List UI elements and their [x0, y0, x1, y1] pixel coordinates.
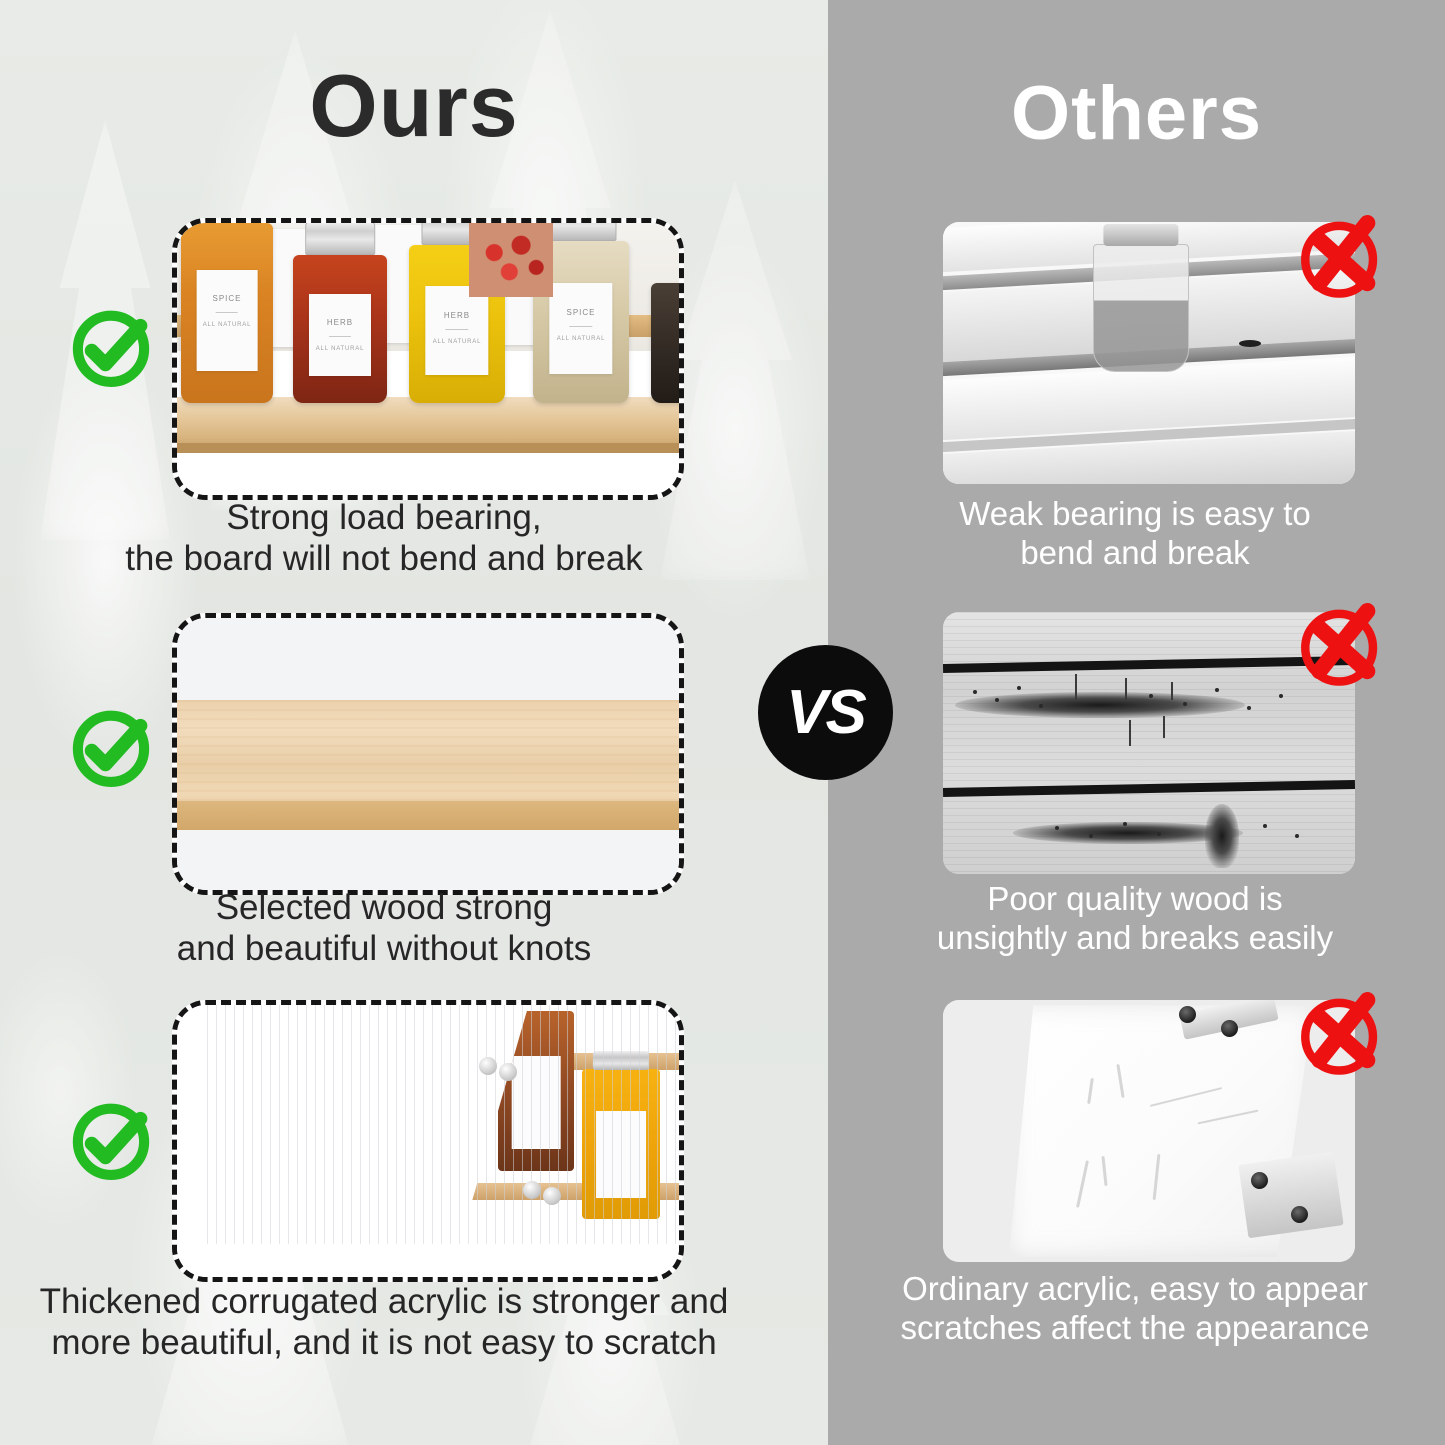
corrugated-texture: [207, 1005, 679, 1244]
gray-jar: [1093, 244, 1189, 372]
jar-label: HERB ALL NATURAL: [425, 286, 488, 374]
red-x-icon: [1294, 208, 1388, 302]
jar-lid-icon: [1103, 224, 1178, 246]
ours-title: Ours: [0, 55, 828, 157]
others-title: Others: [828, 70, 1445, 157]
jar-lid-icon: [305, 221, 375, 255]
ours-image-card-1: SPICE ALL NATURAL HERB ALL NATURAL HERB: [172, 218, 684, 500]
vs-badge: VS: [758, 645, 893, 780]
jar-label: SPICE ALL NATURAL: [549, 283, 612, 374]
ours-caption-3: Thickened corrugated acrylic is stronger…: [14, 1282, 754, 1363]
jar-lid-icon: [545, 218, 616, 241]
green-check-icon: [65, 300, 157, 392]
ours-image-card-2: [172, 613, 684, 895]
ours-caption-1: Strong load bearing, the board will not …: [14, 498, 754, 579]
spice-jar: HERB ALL NATURAL: [293, 255, 387, 403]
ours-caption-2: Selected wood strong and beautiful witho…: [14, 888, 754, 969]
berry-jar-contents: [469, 223, 553, 297]
spice-jar: [651, 283, 684, 403]
comparison-infographic: Ours Others SPICE ALL NATURAL: [0, 0, 1445, 1445]
red-x-icon: [1294, 985, 1388, 1079]
ours-image-card-3: [172, 1000, 684, 1282]
wood-plank: [177, 700, 679, 831]
jar-label: SPICE ALL NATURAL: [197, 270, 258, 371]
green-check-icon: [65, 1093, 157, 1185]
green-check-icon: [65, 700, 157, 792]
others-caption-1: Weak bearing is easy to bend and break: [855, 495, 1415, 573]
others-caption-2: Poor quality wood is unsightly and break…: [855, 880, 1415, 958]
red-x-icon: [1294, 596, 1388, 690]
spice-jar: SPICE ALL NATURAL: [181, 223, 273, 403]
jar-label: HERB ALL NATURAL: [309, 294, 371, 377]
jar-lid-icon: [193, 218, 261, 223]
others-caption-3: Ordinary acrylic, easy to appear scratch…: [855, 1270, 1415, 1348]
